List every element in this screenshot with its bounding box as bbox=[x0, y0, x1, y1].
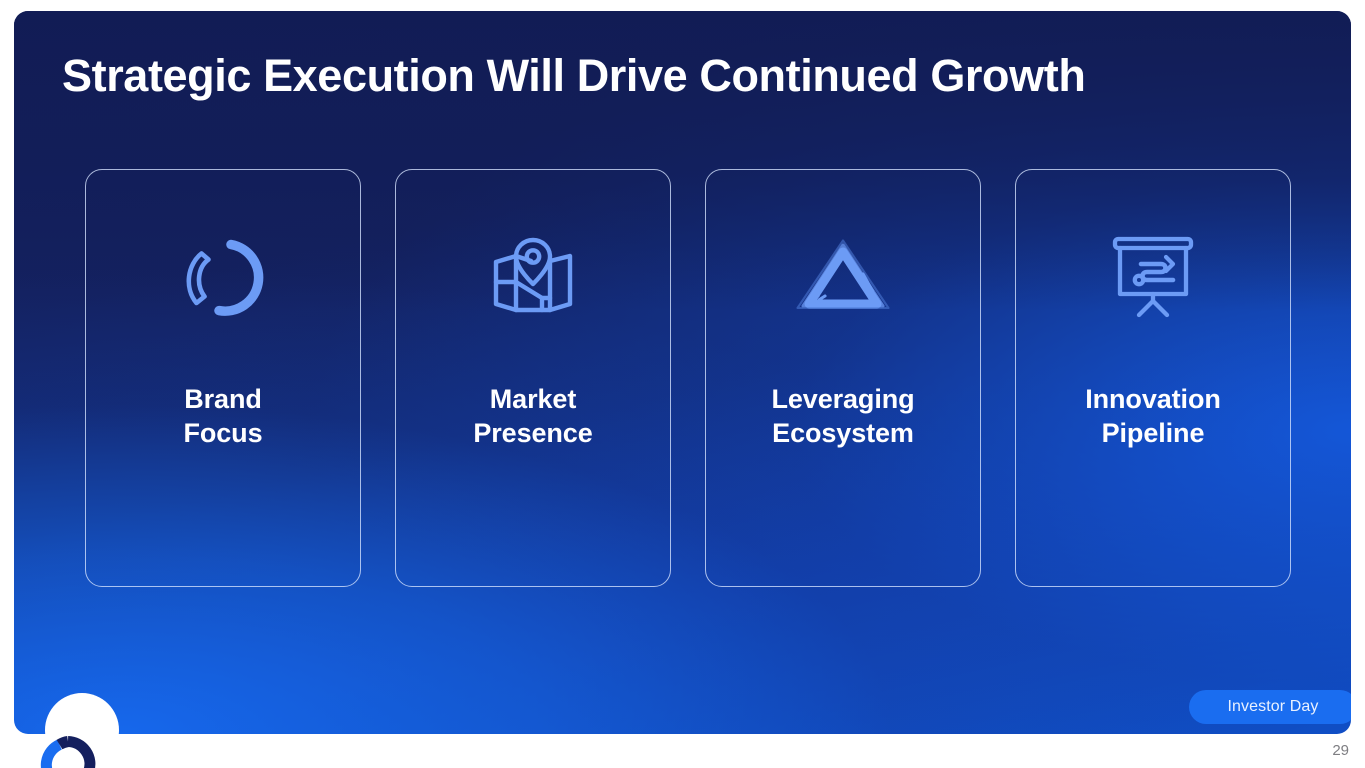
feature-card-market-presence[interactable]: Market Presence bbox=[395, 169, 671, 587]
brand-logo bbox=[40, 736, 96, 768]
feature-card-row: Brand Focus M bbox=[85, 169, 1291, 587]
feature-card-leveraging-ecosystem[interactable]: Leveraging Ecosystem bbox=[705, 169, 981, 587]
feature-card-brand-focus[interactable]: Brand Focus bbox=[85, 169, 361, 587]
map-location-pin-icon bbox=[479, 232, 587, 324]
presentation-roadmap-icon bbox=[1099, 232, 1207, 324]
page-title: Strategic Execution Will Drive Continued… bbox=[62, 51, 1242, 101]
card-label: Brand Focus bbox=[98, 382, 348, 451]
card-label: Innovation Pipeline bbox=[1028, 382, 1278, 451]
slide-root: Strategic Execution Will Drive Continued… bbox=[0, 0, 1365, 768]
card-label: Leveraging Ecosystem bbox=[718, 382, 968, 451]
page-number: 29 bbox=[1332, 742, 1349, 759]
pie-chart-segment-icon bbox=[169, 232, 277, 324]
recycle-triangle-icon bbox=[789, 232, 897, 324]
slide-canvas: Strategic Execution Will Drive Continued… bbox=[14, 11, 1351, 734]
footer-badge: Investor Day bbox=[1189, 690, 1351, 724]
card-label: Market Presence bbox=[408, 382, 658, 451]
feature-card-innovation-pipeline[interactable]: Innovation Pipeline bbox=[1015, 169, 1291, 587]
logo-notch bbox=[45, 693, 119, 734]
